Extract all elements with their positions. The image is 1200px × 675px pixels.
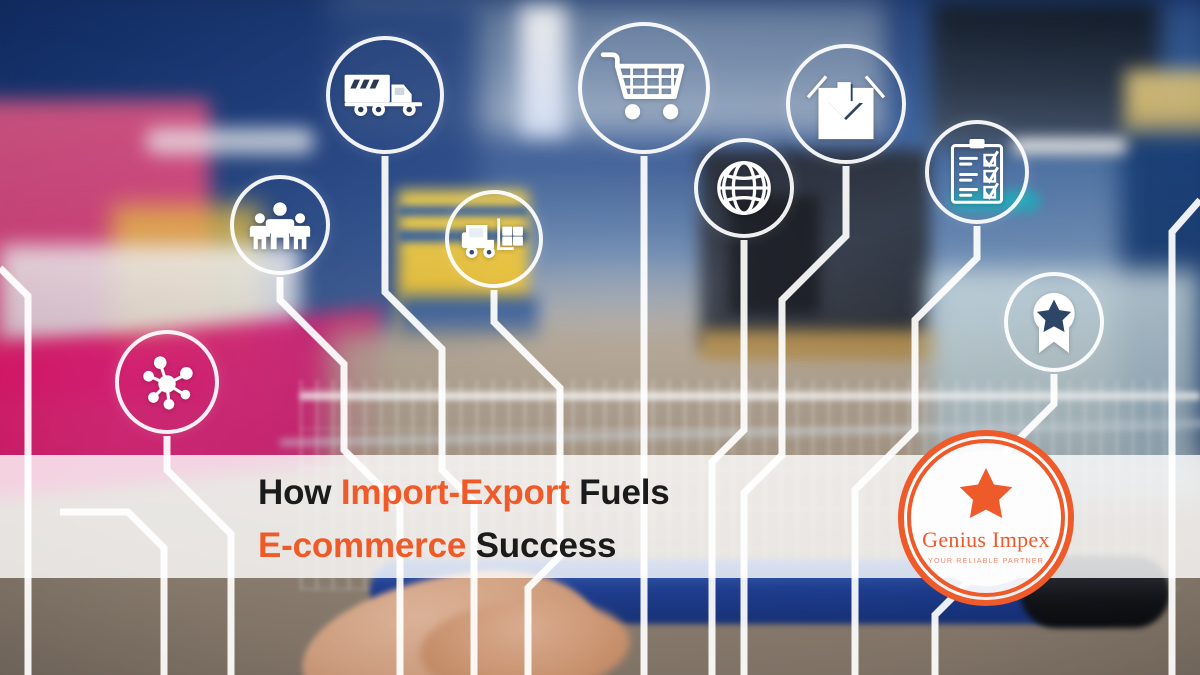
node-cart[interactable]	[578, 22, 710, 154]
star-icon	[959, 467, 1013, 519]
page-title: How Import-Export Fuels E-commerce Succe…	[258, 466, 958, 572]
shopping-cart-icon	[600, 49, 688, 127]
title-plain-b: Fuels	[570, 473, 670, 512]
network-nodes-icon	[136, 351, 198, 413]
logo-tagline: YOUR RELIABLE PARTNER	[928, 556, 1044, 565]
forklift-icon	[461, 215, 527, 263]
logo-name: Genius Impex	[922, 527, 1050, 553]
node-globe[interactable]	[694, 138, 794, 238]
node-people[interactable]	[230, 175, 330, 275]
logo-face: Genius Impex YOUR RELIABLE PARTNER	[918, 450, 1054, 586]
clipboard-check-icon	[948, 138, 1006, 206]
node-award[interactable]	[1004, 272, 1104, 372]
box-arrow-down-icon	[805, 67, 887, 141]
title-accent-ecommerce: E-commerce	[258, 526, 466, 565]
node-network[interactable]	[115, 330, 219, 434]
title-plain-a: How	[258, 473, 341, 512]
delivery-truck-icon	[343, 69, 427, 121]
logo-badge[interactable]: Genius Impex YOUR RELIABLE PARTNER	[898, 430, 1074, 606]
people-group-icon	[249, 199, 311, 251]
title-line-1: How Import-Export Fuels	[258, 466, 958, 519]
title-line-2: E-commerce Success	[258, 519, 958, 572]
title-accent-import-export: Import-Export	[341, 473, 570, 512]
trace-inbox	[744, 166, 846, 675]
banner-graphic: How Import-Export Fuels E-commerce Succe…	[0, 0, 1200, 675]
node-checklist[interactable]	[925, 120, 1029, 224]
node-truck[interactable]	[326, 36, 444, 154]
title-plain-c: Success	[466, 526, 616, 565]
globe-icon	[713, 157, 775, 219]
trace-edge-right	[1172, 200, 1200, 675]
node-forklift[interactable]	[445, 190, 543, 288]
node-inbox[interactable]	[786, 44, 906, 164]
award-ribbon-icon	[1027, 291, 1081, 353]
